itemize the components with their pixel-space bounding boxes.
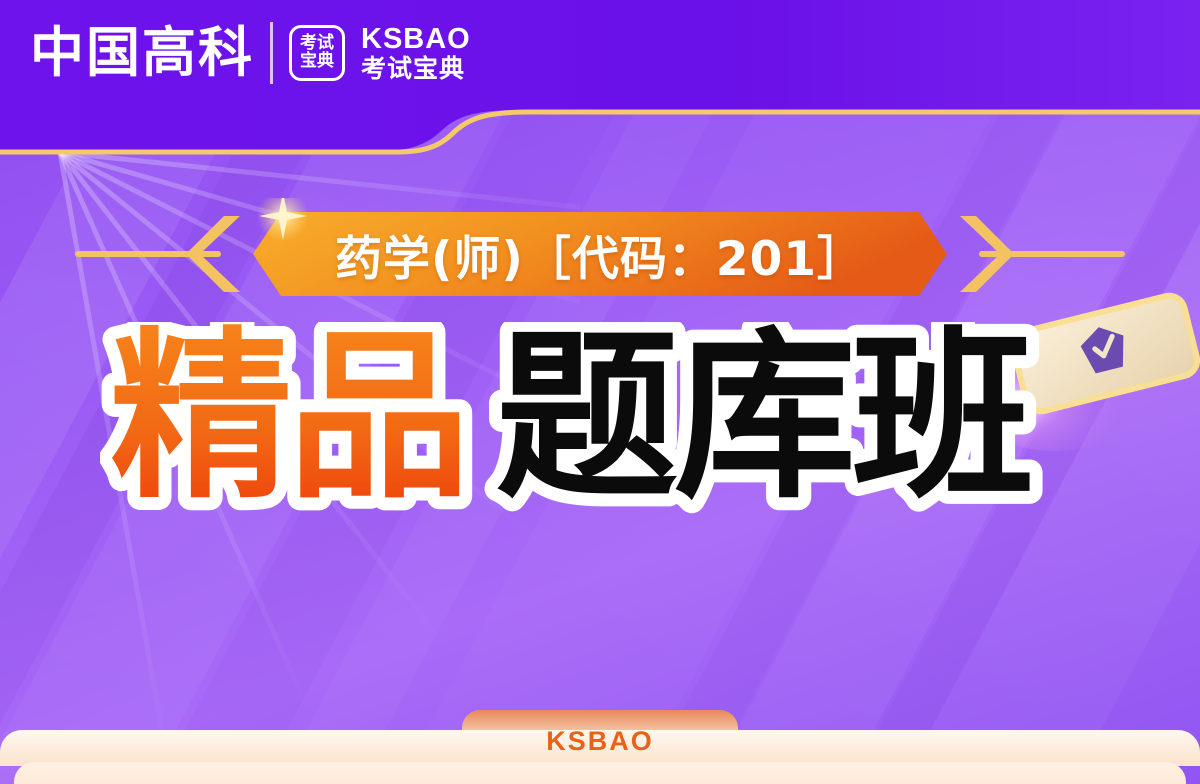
brand-name-cn: 中国高科 [30, 26, 254, 80]
brand-ksbao: KSBAO 考试宝典 [361, 25, 471, 81]
brand-logo: 中国高科 考试 宝典 KSBAO 考试宝典 [30, 22, 471, 84]
footer-panel: KSBAO [0, 704, 1200, 784]
seal-icon: 考试 宝典 [289, 25, 345, 81]
brand-subtitle-cn: 考试宝典 [361, 56, 471, 81]
headline-black-text: 题库班 [496, 322, 1030, 523]
headline-orange-text: 精品 [110, 322, 466, 523]
headline: 精品 精品 题库班 题库班 [0, 322, 1200, 532]
headline-svg: 精品 精品 题库班 题库班 [100, 322, 1100, 532]
brand-name-en: KSBAO [361, 25, 471, 54]
footer-panel-lower [14, 762, 1186, 784]
promo-banner: 中国高科 考试 宝典 KSBAO 考试宝典 [0, 0, 1200, 784]
header-bar: 中国高科 考试 宝典 KSBAO 考试宝典 [0, 0, 1200, 160]
logo-divider [270, 22, 273, 84]
footer-tab-label: KSBAO [0, 726, 1200, 757]
seal-line-2: 宝典 [300, 53, 334, 71]
